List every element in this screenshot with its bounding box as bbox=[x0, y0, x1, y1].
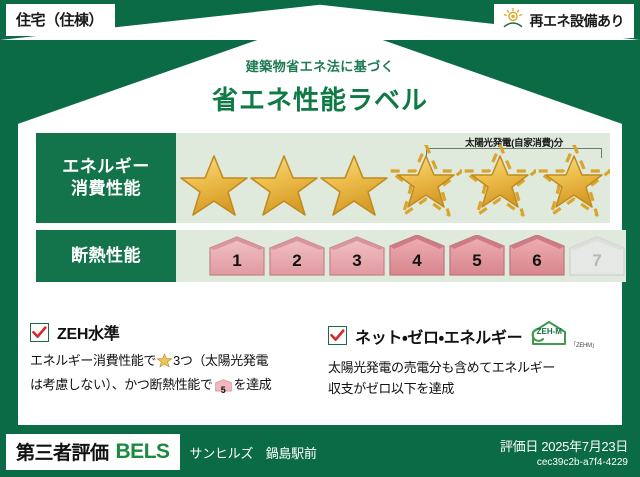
feature-text-line2: 収支がゼロ以下を達成 bbox=[328, 381, 454, 396]
energy-consumption-label: エネルギー 消費性能 bbox=[36, 133, 176, 223]
star-filled bbox=[320, 133, 388, 223]
feature-net-zero-energy: ネット・ゼロ・エネルギー ZEH-M 「ZEHM」 太陽光発電の売電分も含めてエ… bbox=[328, 320, 610, 399]
rating-rows: エネルギー 消費性能 太陽光発電(自家消費)分 bbox=[36, 133, 608, 289]
dwelling-type-label: 住宅（住棟） bbox=[16, 12, 103, 29]
solar-sun-icon bbox=[502, 8, 524, 33]
evaluation-id: cec39c2b-a7f4-4229 bbox=[500, 457, 628, 468]
insulation-level-3: 3 bbox=[328, 235, 386, 277]
renewable-equipment-label: 再エネ設備あり bbox=[530, 11, 625, 31]
insulation-level-4: 4 bbox=[388, 235, 446, 277]
check-icon bbox=[328, 326, 347, 345]
feature-description: エネルギー消費性能で 3つ（太陽光発電 は考慮しない）、かつ断熱性能で 5 を達… bbox=[30, 351, 312, 399]
feature-text-part3: は考慮しない）、かつ断熱性能で bbox=[30, 377, 213, 392]
title-main: 省エネ性能ラベル bbox=[0, 80, 640, 117]
insulation-level-number: 4 bbox=[388, 235, 446, 277]
feature-text-line1: 太陽光発電の売電分も含めてエネルギー bbox=[328, 360, 555, 375]
insulation-level-1: 1 bbox=[208, 235, 266, 277]
check-icon bbox=[30, 323, 49, 342]
insulation-level-2: 2 bbox=[268, 235, 326, 277]
insulation-levels-area: 1 2 3 bbox=[176, 230, 626, 282]
title-block: 建築物省エネ法に基づく 省エネ性能ラベル bbox=[0, 56, 640, 117]
inline-house-number: 5 bbox=[215, 378, 232, 400]
insulation-level-number: 6 bbox=[508, 235, 566, 277]
property-name: サンヒルズ 鍋島駅前 bbox=[190, 443, 317, 462]
inline-star-icon bbox=[157, 353, 172, 375]
insulation-level-number: 3 bbox=[328, 235, 386, 277]
zeh-m-logo-tag: 「ZEHM」 bbox=[570, 340, 597, 351]
insulation-level-number: 7 bbox=[568, 235, 626, 277]
feature-text-part1: エネルギー消費性能で bbox=[30, 353, 156, 368]
feature-panels: ZEH水準 エネルギー消費性能で 3つ（太陽光発電 は考慮しない）、かつ断熱性能… bbox=[30, 320, 610, 399]
star-solar bbox=[538, 133, 610, 223]
zeh-m-logo-text: ZEH-M bbox=[530, 327, 568, 336]
zeh-m-logo: ZEH-M 「ZEHM」 bbox=[530, 320, 597, 351]
insulation-level-number: 2 bbox=[268, 235, 326, 277]
title-subtitle: 建築物省エネ法に基づく bbox=[0, 56, 640, 75]
insulation-performance-row: 断熱性能 1 bbox=[36, 230, 608, 282]
star-filled bbox=[250, 133, 318, 223]
insulation-level-5: 5 bbox=[448, 235, 506, 277]
bels-certification-badge: 第三者評価 BELS bbox=[6, 434, 180, 470]
energy-performance-label-card: 住宅（住棟） 再エネ設備あり 建築物省エネ法に基づく 省エネ性能ラベル bbox=[0, 0, 640, 477]
feature-header: ネット・ゼロ・エネルギー ZEH-M 「ZEHM」 bbox=[328, 320, 610, 351]
star-filled bbox=[180, 133, 248, 223]
evaluation-info: 評価日 2025年7月23日 cec39c2b-a7f4-4229 bbox=[500, 436, 628, 468]
star-solar bbox=[464, 133, 536, 223]
insulation-level-number: 1 bbox=[208, 235, 266, 277]
inline-house-icon: 5 bbox=[215, 378, 232, 400]
footer-bar: 第三者評価 BELS サンヒルズ 鍋島駅前 評価日 2025年7月23日 cec… bbox=[0, 427, 640, 477]
feature-title: ZEH水準 bbox=[57, 320, 120, 344]
insulation-level-group: 1 2 3 bbox=[208, 235, 626, 277]
feature-zeh-standard: ZEH水準 エネルギー消費性能で 3つ（太陽光発電 は考慮しない）、かつ断熱性能… bbox=[30, 320, 312, 399]
renewable-equipment-badge: 再エネ設備あり bbox=[494, 4, 635, 38]
bels-jp-label: 第三者評価 bbox=[16, 438, 109, 465]
insulation-level-7: 7 bbox=[568, 235, 626, 277]
bels-en-label: BELS bbox=[116, 440, 170, 464]
insulation-level-6: 6 bbox=[508, 235, 566, 277]
zeh-m-house-icon: ZEH-M bbox=[530, 320, 568, 351]
star-solar bbox=[390, 133, 462, 223]
dwelling-type-badge: 住宅（住棟） bbox=[6, 4, 115, 36]
feature-description: 太陽光発電の売電分も含めてエネルギー 収支がゼロ以下を達成 bbox=[328, 358, 610, 399]
feature-text-part2: 3つ（太陽光発電 bbox=[173, 353, 268, 368]
energy-consumption-row: エネルギー 消費性能 太陽光発電(自家消費)分 bbox=[36, 133, 608, 223]
feature-text-part4: を達成 bbox=[234, 377, 272, 392]
feature-title: ネット・ゼロ・エネルギー bbox=[355, 324, 522, 348]
evaluation-date: 評価日 2025年7月23日 bbox=[500, 436, 628, 455]
insulation-level-number: 5 bbox=[448, 235, 506, 277]
feature-header: ZEH水準 bbox=[30, 320, 312, 344]
energy-stars-area: 太陽光発電(自家消費)分 bbox=[176, 133, 610, 223]
insulation-performance-label: 断熱性能 bbox=[36, 230, 176, 282]
star-rating-group bbox=[180, 133, 610, 223]
